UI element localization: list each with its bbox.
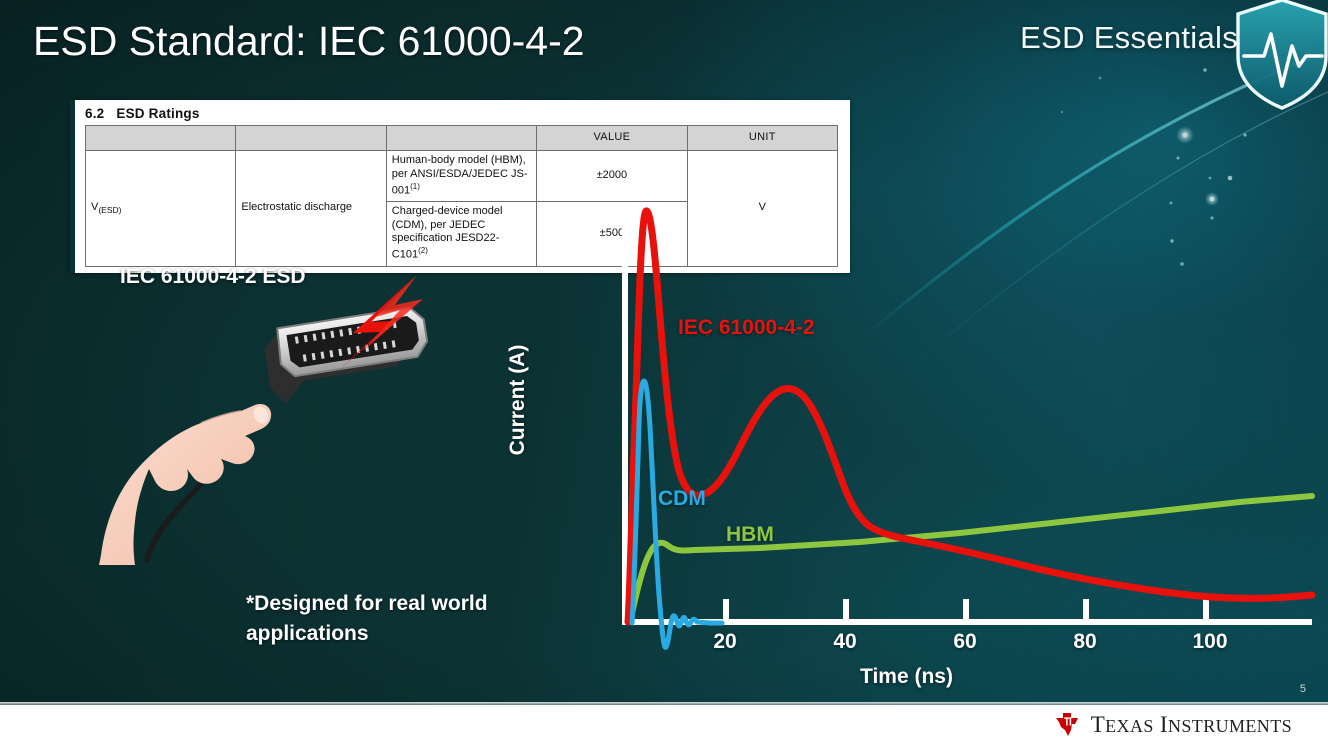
description-text-cdm: Charged-device model (CDM), per JEDEC sp…	[392, 205, 503, 261]
x-tick-label-100: 100	[1192, 630, 1227, 654]
ti-brand-first: EXAS	[1105, 716, 1154, 736]
x-tick-label-40: 40	[833, 630, 856, 654]
ti-texas-logo-icon	[1052, 709, 1082, 739]
x-tick-label-20: 20	[713, 630, 736, 654]
series-label-cdm: CDM	[658, 487, 706, 511]
series-iec-line	[628, 211, 1312, 622]
series-hbm-line	[630, 496, 1312, 622]
page-title: ESD Standard: IEC 61000-4-2	[33, 18, 585, 65]
series-label-iec: IEC 61000-4-2	[678, 316, 815, 340]
table-caption-number: 6.2	[85, 106, 104, 121]
footnote-marker-1: (1)	[410, 182, 420, 191]
x-tick-label-80: 80	[1073, 630, 1096, 654]
header-blank-parameter	[236, 126, 386, 151]
table-caption: 6.2ESD Ratings	[75, 102, 850, 125]
cell-description-hbm: Human-body model (HBM), per ANSI/ESDA/JE…	[386, 151, 536, 202]
ti-logo: TEXAS INSTRUMENTS	[1052, 708, 1292, 740]
cell-parameter: Electrostatic discharge	[236, 151, 386, 267]
header-blank-description	[386, 126, 536, 151]
header-unit: UNIT	[687, 126, 837, 151]
cell-symbol: V(ESD)	[86, 151, 236, 267]
ti-wordmark: TEXAS INSTRUMENTS	[1091, 713, 1292, 736]
symbol-subscript: (ESD)	[98, 205, 121, 215]
chart-x-axis-label: Time (ns)	[860, 665, 953, 689]
slide-canvas: ESD Standard: IEC 61000-4-2 ESD Essentia…	[0, 0, 1328, 746]
x-tick-label-60: 60	[953, 630, 976, 654]
chart-y-axis-label: Current (A)	[506, 320, 530, 480]
cell-value-hbm: ±2000	[537, 151, 687, 202]
ti-brand-second: NSTRUMENTS	[1168, 716, 1292, 736]
hand-holding-hdmi-connector	[95, 255, 435, 565]
footnote-marker-2: (2)	[418, 246, 428, 255]
table-row: V(ESD) Electrostatic discharge Human-bod…	[86, 151, 838, 202]
series-cdm-line	[632, 381, 722, 647]
real-world-note: *Designed for real world applications	[246, 589, 556, 650]
chart-axes	[622, 205, 1312, 625]
header-value: VALUE	[537, 126, 687, 151]
series-label-hbm: HBM	[726, 523, 774, 547]
shield-pulse-icon	[1230, 0, 1328, 114]
table-header-row: VALUE UNIT	[86, 126, 838, 151]
page-number: 5	[1300, 683, 1306, 695]
esd-essentials-label: ESD Essentials	[1020, 20, 1238, 56]
header-blank-symbol	[86, 126, 236, 151]
esd-waveform-chart	[560, 195, 1320, 695]
table-caption-title: ESD Ratings	[116, 106, 199, 121]
